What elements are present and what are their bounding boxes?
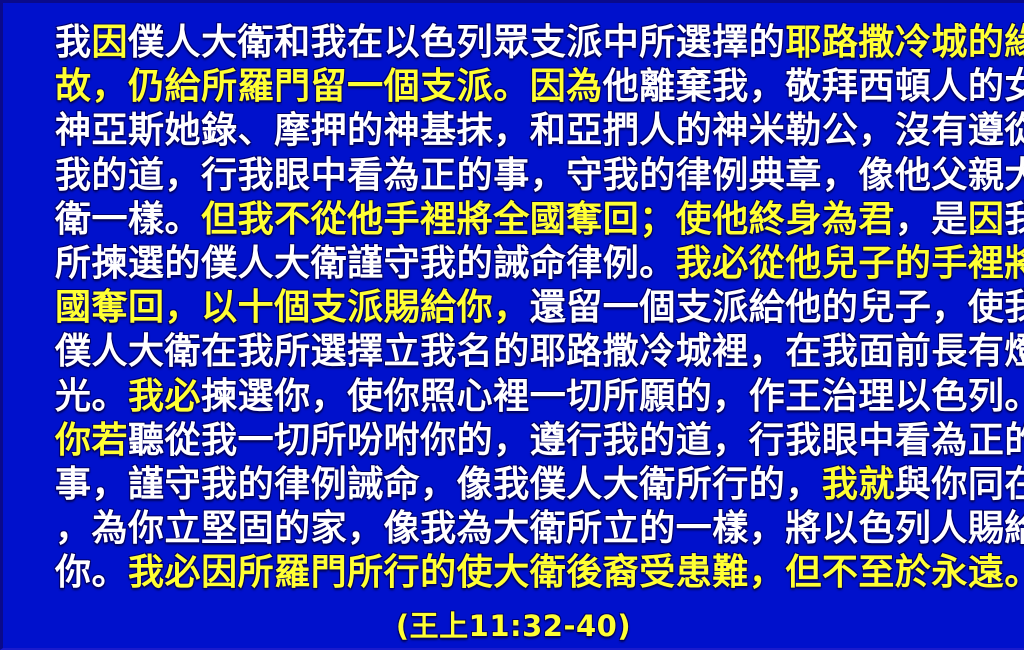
verse-char: 一 xyxy=(238,419,275,463)
verse-char: 我 xyxy=(201,419,238,463)
verse-char: 頓 xyxy=(895,65,932,109)
verse-char: 的 xyxy=(639,154,676,198)
highlighted-char: 全 xyxy=(493,198,530,242)
verse-char: 。 xyxy=(92,551,129,595)
verse-char: 使 xyxy=(968,286,1005,330)
verse-char: 衛 xyxy=(639,463,676,507)
verse-char: 堅 xyxy=(201,507,238,551)
verse-char: ， xyxy=(165,154,202,198)
highlighted-char: 羅 xyxy=(238,65,275,109)
verse-char: 在 xyxy=(1004,463,1024,507)
verse-char: 派 xyxy=(712,286,749,330)
verse-char: 同 xyxy=(968,463,1005,507)
verse-char: 例 xyxy=(311,463,348,507)
verse-char: 人 xyxy=(165,21,202,65)
verse-line: 我的道，行我眼中看為正的事，守我的律例典章，像他父親大 xyxy=(55,154,978,198)
verse-char: 僕 xyxy=(201,242,238,286)
verse-char: 西 xyxy=(858,65,895,109)
verse-char: 一 xyxy=(92,198,129,242)
verse-char: ， xyxy=(822,154,859,198)
verse-char: 敬 xyxy=(785,65,822,109)
verse-char: 為 xyxy=(384,154,421,198)
highlighted-char: 遠 xyxy=(968,551,1005,595)
verse-char: 咐 xyxy=(384,419,421,463)
highlighted-char: 子 xyxy=(858,242,895,286)
verse-char: 僕 xyxy=(55,330,92,374)
verse-char: ， xyxy=(493,419,530,463)
verse-char: 行 xyxy=(566,419,603,463)
verse-char: 派 xyxy=(566,21,603,65)
verse-char: 的 xyxy=(749,21,786,65)
verse-char: 正 xyxy=(420,154,457,198)
highlighted-char: ， xyxy=(749,551,786,595)
verse-char: 你 xyxy=(128,507,165,551)
verse-char: 所 xyxy=(603,375,640,419)
verse-char: 將 xyxy=(785,507,822,551)
verse-char: 的 xyxy=(968,65,1005,109)
verse-char: 的 xyxy=(457,419,494,463)
verse-char: 為 xyxy=(457,507,494,551)
highlighted-char: 的 xyxy=(895,242,932,286)
verse-char: 像 xyxy=(457,463,494,507)
verse-char: 和 xyxy=(530,109,567,153)
highlighted-char: 身 xyxy=(785,198,822,242)
verse-char: 看 xyxy=(895,419,932,463)
scripture-citation: (王上11:32-40) xyxy=(3,603,1024,645)
highlighted-char: 。 xyxy=(493,65,530,109)
highlighted-char: 給 xyxy=(165,65,202,109)
highlighted-char: 因 xyxy=(92,21,129,65)
verse-char: 擇 xyxy=(712,21,749,65)
highlighted-char: 裡 xyxy=(420,198,457,242)
highlighted-char: 以 xyxy=(201,286,238,330)
verse-char: 守 xyxy=(384,242,421,286)
verse-char: 米 xyxy=(749,109,786,153)
verse-char: 家 xyxy=(311,507,348,551)
verse-char: 。 xyxy=(92,375,129,419)
highlighted-char: 你 xyxy=(457,286,494,330)
highlighted-char: 手 xyxy=(384,198,421,242)
verse-char: 我 xyxy=(55,154,92,198)
verse-char: 的 xyxy=(347,109,384,153)
verse-line: 光。我必揀選你，使你照心裡一切所願的，作王治理以色列。 xyxy=(55,375,978,419)
verse-char: 我 xyxy=(311,21,348,65)
verse-char: 切 xyxy=(566,375,603,419)
highlighted-char: 賜 xyxy=(384,286,421,330)
verse-line: 神亞斯她錄、摩押的神基抹，和亞捫人的神米勒公，沒有遵從 xyxy=(55,109,978,153)
highlighted-char: 耶 xyxy=(785,21,822,65)
verse-char: 給 xyxy=(749,286,786,330)
verse-char: 兒 xyxy=(858,286,895,330)
verse-char: 一 xyxy=(676,507,713,551)
highlighted-char: 回 xyxy=(128,286,165,330)
highlighted-char: 大 xyxy=(493,551,530,595)
verse-char: ， xyxy=(420,463,457,507)
highlighted-char: 個 xyxy=(274,286,311,330)
verse-char: 照 xyxy=(420,375,457,419)
verse-char: 你 xyxy=(55,551,92,595)
verse-char: 選 xyxy=(676,21,713,65)
verse-char: 你 xyxy=(420,419,457,463)
verse-char: 給 xyxy=(1004,507,1024,551)
verse-char: 選 xyxy=(238,375,275,419)
verse-char: 有 xyxy=(968,330,1005,374)
verse-char: 固 xyxy=(238,507,275,551)
highlighted-char: 奪 xyxy=(92,286,129,330)
verse-char: 基 xyxy=(420,109,457,153)
highlighted-char: 所 xyxy=(201,65,238,109)
verse-char: 人 xyxy=(566,463,603,507)
verse-char: ， xyxy=(712,375,749,419)
highlighted-char: 裔 xyxy=(603,551,640,595)
verse-char: 色 xyxy=(420,21,457,65)
verse-char: 的 xyxy=(676,109,713,153)
highlighted-char: ， xyxy=(165,286,202,330)
verse-char: 我 xyxy=(55,21,92,65)
verse-char: 人 xyxy=(639,109,676,153)
verse-char: 亞 xyxy=(566,109,603,153)
verse-char: 神 xyxy=(55,109,92,153)
verse-char: 吩 xyxy=(347,419,384,463)
highlighted-char: 永 xyxy=(931,551,968,595)
verse-char: ， xyxy=(347,507,384,551)
verse-char: 大 xyxy=(201,21,238,65)
highlighted-char: 但 xyxy=(785,551,822,595)
verse-char: 前 xyxy=(895,330,932,374)
verse-char: 耶 xyxy=(530,330,567,374)
verse-char: 律 xyxy=(676,154,713,198)
verse-char: 一 xyxy=(603,286,640,330)
verse-char: 我 xyxy=(238,154,275,198)
verse-char: 律 xyxy=(566,242,603,286)
verse-char: 面 xyxy=(858,330,895,374)
highlighted-char: 門 xyxy=(274,65,311,109)
verse-char: 所 xyxy=(311,419,348,463)
verse-char: 我 xyxy=(238,330,275,374)
verse-char: 中 xyxy=(858,419,895,463)
highlighted-char: 你 xyxy=(55,419,92,463)
verse-char: 有 xyxy=(931,109,968,153)
highlighted-char: 門 xyxy=(311,551,348,595)
verse-char: 勒 xyxy=(785,109,822,153)
highlighted-char: 奪 xyxy=(566,198,603,242)
scripture-slide: 我因僕人大衛和我在以色列眾支派中所選擇的耶路撒冷城的緣故，仍給所羅門留一個支派。… xyxy=(0,0,1024,650)
verse-char: 的 xyxy=(639,419,676,463)
verse-line: 所揀選的僕人大衛謹守我的誡命律例。我必從他兒子的手裡將 xyxy=(55,242,978,286)
verse-char: 道 xyxy=(128,154,165,198)
verse-char: 我 xyxy=(603,419,640,463)
verse-char: 中 xyxy=(603,21,640,65)
verse-char: 色 xyxy=(931,375,968,419)
verse-char: 人 xyxy=(238,242,275,286)
verse-char: 看 xyxy=(347,154,384,198)
verse-char: 僕 xyxy=(128,21,165,65)
verse-char: 光 xyxy=(55,375,92,419)
highlighted-char: 衛 xyxy=(530,551,567,595)
highlighted-char: 我 xyxy=(238,198,275,242)
verse-char: 命 xyxy=(530,242,567,286)
verse-char: 我 xyxy=(1004,198,1024,242)
verse-char: 棄 xyxy=(676,65,713,109)
highlighted-char: 。 xyxy=(1004,551,1024,595)
verse-char: ， xyxy=(311,375,348,419)
highlighted-char: 他 xyxy=(347,198,384,242)
verse-char: ， xyxy=(493,109,530,153)
verse-char: 誡 xyxy=(347,463,384,507)
verse-char: 在 xyxy=(201,330,238,374)
verse-char: ， xyxy=(749,507,786,551)
verse-char: 擇 xyxy=(347,330,384,374)
verse-char: 大 xyxy=(128,330,165,374)
highlighted-char: 君 xyxy=(858,198,895,242)
verse-char: 遵 xyxy=(968,109,1005,153)
verse-char: 樣 xyxy=(712,507,749,551)
verse-char: 在 xyxy=(347,21,384,65)
highlighted-char: 因 xyxy=(968,198,1005,242)
verse-char: 命 xyxy=(384,463,421,507)
verse-char: 斯 xyxy=(128,109,165,153)
verse-char: 大 xyxy=(493,507,530,551)
verse-char: 的 xyxy=(274,507,311,551)
highlighted-char: 回 xyxy=(603,198,640,242)
highlighted-char: 不 xyxy=(274,198,311,242)
verse-char: 我 xyxy=(603,154,640,198)
verse-char: 理 xyxy=(858,375,895,419)
verse-char: 神 xyxy=(712,109,749,153)
verse-char: 以 xyxy=(822,507,859,551)
verse-char: 個 xyxy=(639,286,676,330)
verse-line: 僕人大衛在我所選擇立我名的耶路撒冷城裡，在我面前長有燈 xyxy=(55,330,978,374)
highlighted-char: 國 xyxy=(55,286,92,330)
verse-char: 你 xyxy=(384,375,421,419)
verse-char: ， xyxy=(530,154,567,198)
highlighted-char: 必 xyxy=(165,551,202,595)
verse-char: 裡 xyxy=(493,375,530,419)
verse-char: 我 xyxy=(712,65,749,109)
highlighted-char: 派 xyxy=(457,65,494,109)
verse-char: 名 xyxy=(457,330,494,374)
verse-char: 抹 xyxy=(457,109,494,153)
verse-line: 我因僕人大衛和我在以色列眾支派中所選擇的耶路撒冷城的緣 xyxy=(55,21,978,65)
highlighted-char: 他 xyxy=(785,242,822,286)
verse-char: 列 xyxy=(895,507,932,551)
verse-char: 你 xyxy=(274,375,311,419)
verse-char: 她 xyxy=(165,109,202,153)
verse-char: 所 xyxy=(676,463,713,507)
verse-char: 是 xyxy=(931,198,968,242)
verse-char: 人 xyxy=(931,507,968,551)
verse-char: ， xyxy=(858,109,895,153)
verse-char: 的 xyxy=(493,330,530,374)
highlighted-char: 為 xyxy=(566,65,603,109)
highlighted-char: 將 xyxy=(457,198,494,242)
verse-char: 的 xyxy=(457,154,494,198)
verse-char: 的 xyxy=(457,242,494,286)
verse-char: 行 xyxy=(712,463,749,507)
verse-char: 選 xyxy=(311,330,348,374)
highlighted-char: 難 xyxy=(712,551,749,595)
verse-char: 我 xyxy=(493,463,530,507)
verse-char: 亞 xyxy=(92,109,129,153)
highlighted-char: 城 xyxy=(931,21,968,65)
highlighted-char: 行 xyxy=(384,551,421,595)
verse-char: ， xyxy=(749,330,786,374)
verse-char: 的 xyxy=(639,507,676,551)
highlighted-char: 所 xyxy=(347,551,384,595)
verse-char: 立 xyxy=(603,507,640,551)
verse-char: 列 xyxy=(968,375,1005,419)
verse-char: 謹 xyxy=(128,463,165,507)
highlighted-char: 裡 xyxy=(968,242,1005,286)
verse-char: 離 xyxy=(639,65,676,109)
verse-char: 例 xyxy=(603,242,640,286)
verse-char: 裡 xyxy=(712,330,749,374)
verse-char: 所 xyxy=(274,330,311,374)
verse-char: 撒 xyxy=(603,330,640,374)
verse-char: 像 xyxy=(858,154,895,198)
verse-char: 的 xyxy=(238,463,275,507)
verse-char: 揀 xyxy=(201,375,238,419)
highlighted-char: 不 xyxy=(822,551,859,595)
verse-char: ， xyxy=(785,463,822,507)
verse-line: 事，謹守我的律例誡命，像我僕人大衛所行的，我就與你同在 xyxy=(55,463,978,507)
highlighted-char: 為 xyxy=(822,198,859,242)
highlighted-char: 給 xyxy=(420,286,457,330)
verse-char: 所 xyxy=(566,507,603,551)
verse-char: 我 xyxy=(785,419,822,463)
verse-char: 留 xyxy=(566,286,603,330)
highlighted-char: 必 xyxy=(712,242,749,286)
verse-char: 謹 xyxy=(347,242,384,286)
verse-char: 捫 xyxy=(603,109,640,153)
highlighted-char: 我 xyxy=(822,463,859,507)
verse-char: 願 xyxy=(639,375,676,419)
verse-char: 你 xyxy=(931,463,968,507)
verse-char: 誡 xyxy=(493,242,530,286)
verse-char: 衛 xyxy=(238,21,275,65)
highlighted-char: ， xyxy=(92,65,129,109)
highlighted-char: 支 xyxy=(420,65,457,109)
verse-char: 衛 xyxy=(55,198,92,242)
verse-char: 拜 xyxy=(822,65,859,109)
highlighted-char: 冷 xyxy=(895,21,932,65)
verse-char: ， xyxy=(712,419,749,463)
verse-char: 律 xyxy=(274,463,311,507)
verse-char: 女 xyxy=(1004,65,1024,109)
verse-char: 所 xyxy=(55,242,92,286)
verse-char: 的 xyxy=(822,286,859,330)
verse-char: 我 xyxy=(822,330,859,374)
highlighted-char: 緣 xyxy=(1004,21,1024,65)
verse-char: 守 xyxy=(165,463,202,507)
highlighted-char: 至 xyxy=(858,551,895,595)
highlighted-char: 所 xyxy=(238,551,275,595)
highlighted-char: 使 xyxy=(676,198,713,242)
verse-char: 人 xyxy=(931,65,968,109)
verse-char: 押 xyxy=(311,109,348,153)
verse-char: 列 xyxy=(457,21,494,65)
highlighted-char: 手 xyxy=(931,242,968,286)
verse-char: ， xyxy=(931,286,968,330)
verse-char: 守 xyxy=(566,154,603,198)
highlighted-char: 羅 xyxy=(274,551,311,595)
highlighted-char: ； xyxy=(639,198,676,242)
verse-char: 從 xyxy=(1004,109,1024,153)
verse-char: 以 xyxy=(895,375,932,419)
verse-char: 為 xyxy=(931,419,968,463)
verse-char: 的 xyxy=(92,154,129,198)
highlighted-char: 撒 xyxy=(858,21,895,65)
verse-char: 行 xyxy=(201,154,238,198)
verse-char: 眾 xyxy=(493,21,530,65)
verse-char: 選 xyxy=(128,242,165,286)
verse-char: 與 xyxy=(895,463,932,507)
verse-char: 長 xyxy=(931,330,968,374)
verse-char: 大 xyxy=(603,463,640,507)
highlighted-char: 個 xyxy=(384,65,421,109)
verse-line: 你。我必因所羅門所行的使大衛後裔受患難，但不至於永遠。 xyxy=(55,551,978,595)
highlighted-char: 從 xyxy=(749,242,786,286)
verse-char: 他 xyxy=(895,154,932,198)
verse-char: 像 xyxy=(384,507,421,551)
verse-char: 人 xyxy=(92,330,129,374)
verse-char: 一 xyxy=(530,375,567,419)
verse-char: 、 xyxy=(238,109,275,153)
verse-char: 章 xyxy=(785,154,822,198)
verse-char: 我 xyxy=(420,242,457,286)
verse-char: 的 xyxy=(165,242,202,286)
verse-char: 公 xyxy=(822,109,859,153)
verse-char: 眼 xyxy=(822,419,859,463)
verse-char: 使 xyxy=(347,375,384,419)
verse-char: 還 xyxy=(530,286,567,330)
highlighted-char: 受 xyxy=(639,551,676,595)
highlighted-char: 他 xyxy=(712,198,749,242)
verse-char: 父 xyxy=(931,154,968,198)
verse-char: 揀 xyxy=(92,242,129,286)
verse-char: 眼 xyxy=(274,154,311,198)
verse-char: 的 xyxy=(676,375,713,419)
highlighted-char: 我 xyxy=(128,551,165,595)
verse-char: 我 xyxy=(420,507,457,551)
verse-char: 衛 xyxy=(165,330,202,374)
verse-char: 路 xyxy=(566,330,603,374)
verse-char: 所 xyxy=(639,21,676,65)
highlighted-char: 我 xyxy=(128,375,165,419)
highlighted-char: 的 xyxy=(420,551,457,595)
verse-char: 冷 xyxy=(639,330,676,374)
verse-char: 我 xyxy=(201,463,238,507)
verse-char: 行 xyxy=(749,419,786,463)
verse-char: 我 xyxy=(420,330,457,374)
verse-line: 故，仍給所羅門留一個支派。因為他離棄我，敬拜西頓人的女 xyxy=(55,65,978,109)
verse-char: 衛 xyxy=(530,507,567,551)
verse-char: 。 xyxy=(1004,375,1024,419)
verse-char: 的 xyxy=(749,463,786,507)
verse-char: 摩 xyxy=(274,109,311,153)
verse-char: 和 xyxy=(274,21,311,65)
verse-char: 我 xyxy=(1004,286,1024,330)
verse-char: 遵 xyxy=(530,419,567,463)
highlighted-char: 終 xyxy=(749,198,786,242)
verse-char: 的 xyxy=(1004,419,1024,463)
verse-char: 立 xyxy=(384,330,421,374)
verse-line: 國奪回，以十個支派賜給你，還留一個支派給他的兒子，使我 xyxy=(55,286,978,330)
verse-char: 治 xyxy=(822,375,859,419)
verse-char: 他 xyxy=(603,65,640,109)
highlighted-char: 十 xyxy=(238,286,275,330)
highlighted-char: 因 xyxy=(530,65,567,109)
